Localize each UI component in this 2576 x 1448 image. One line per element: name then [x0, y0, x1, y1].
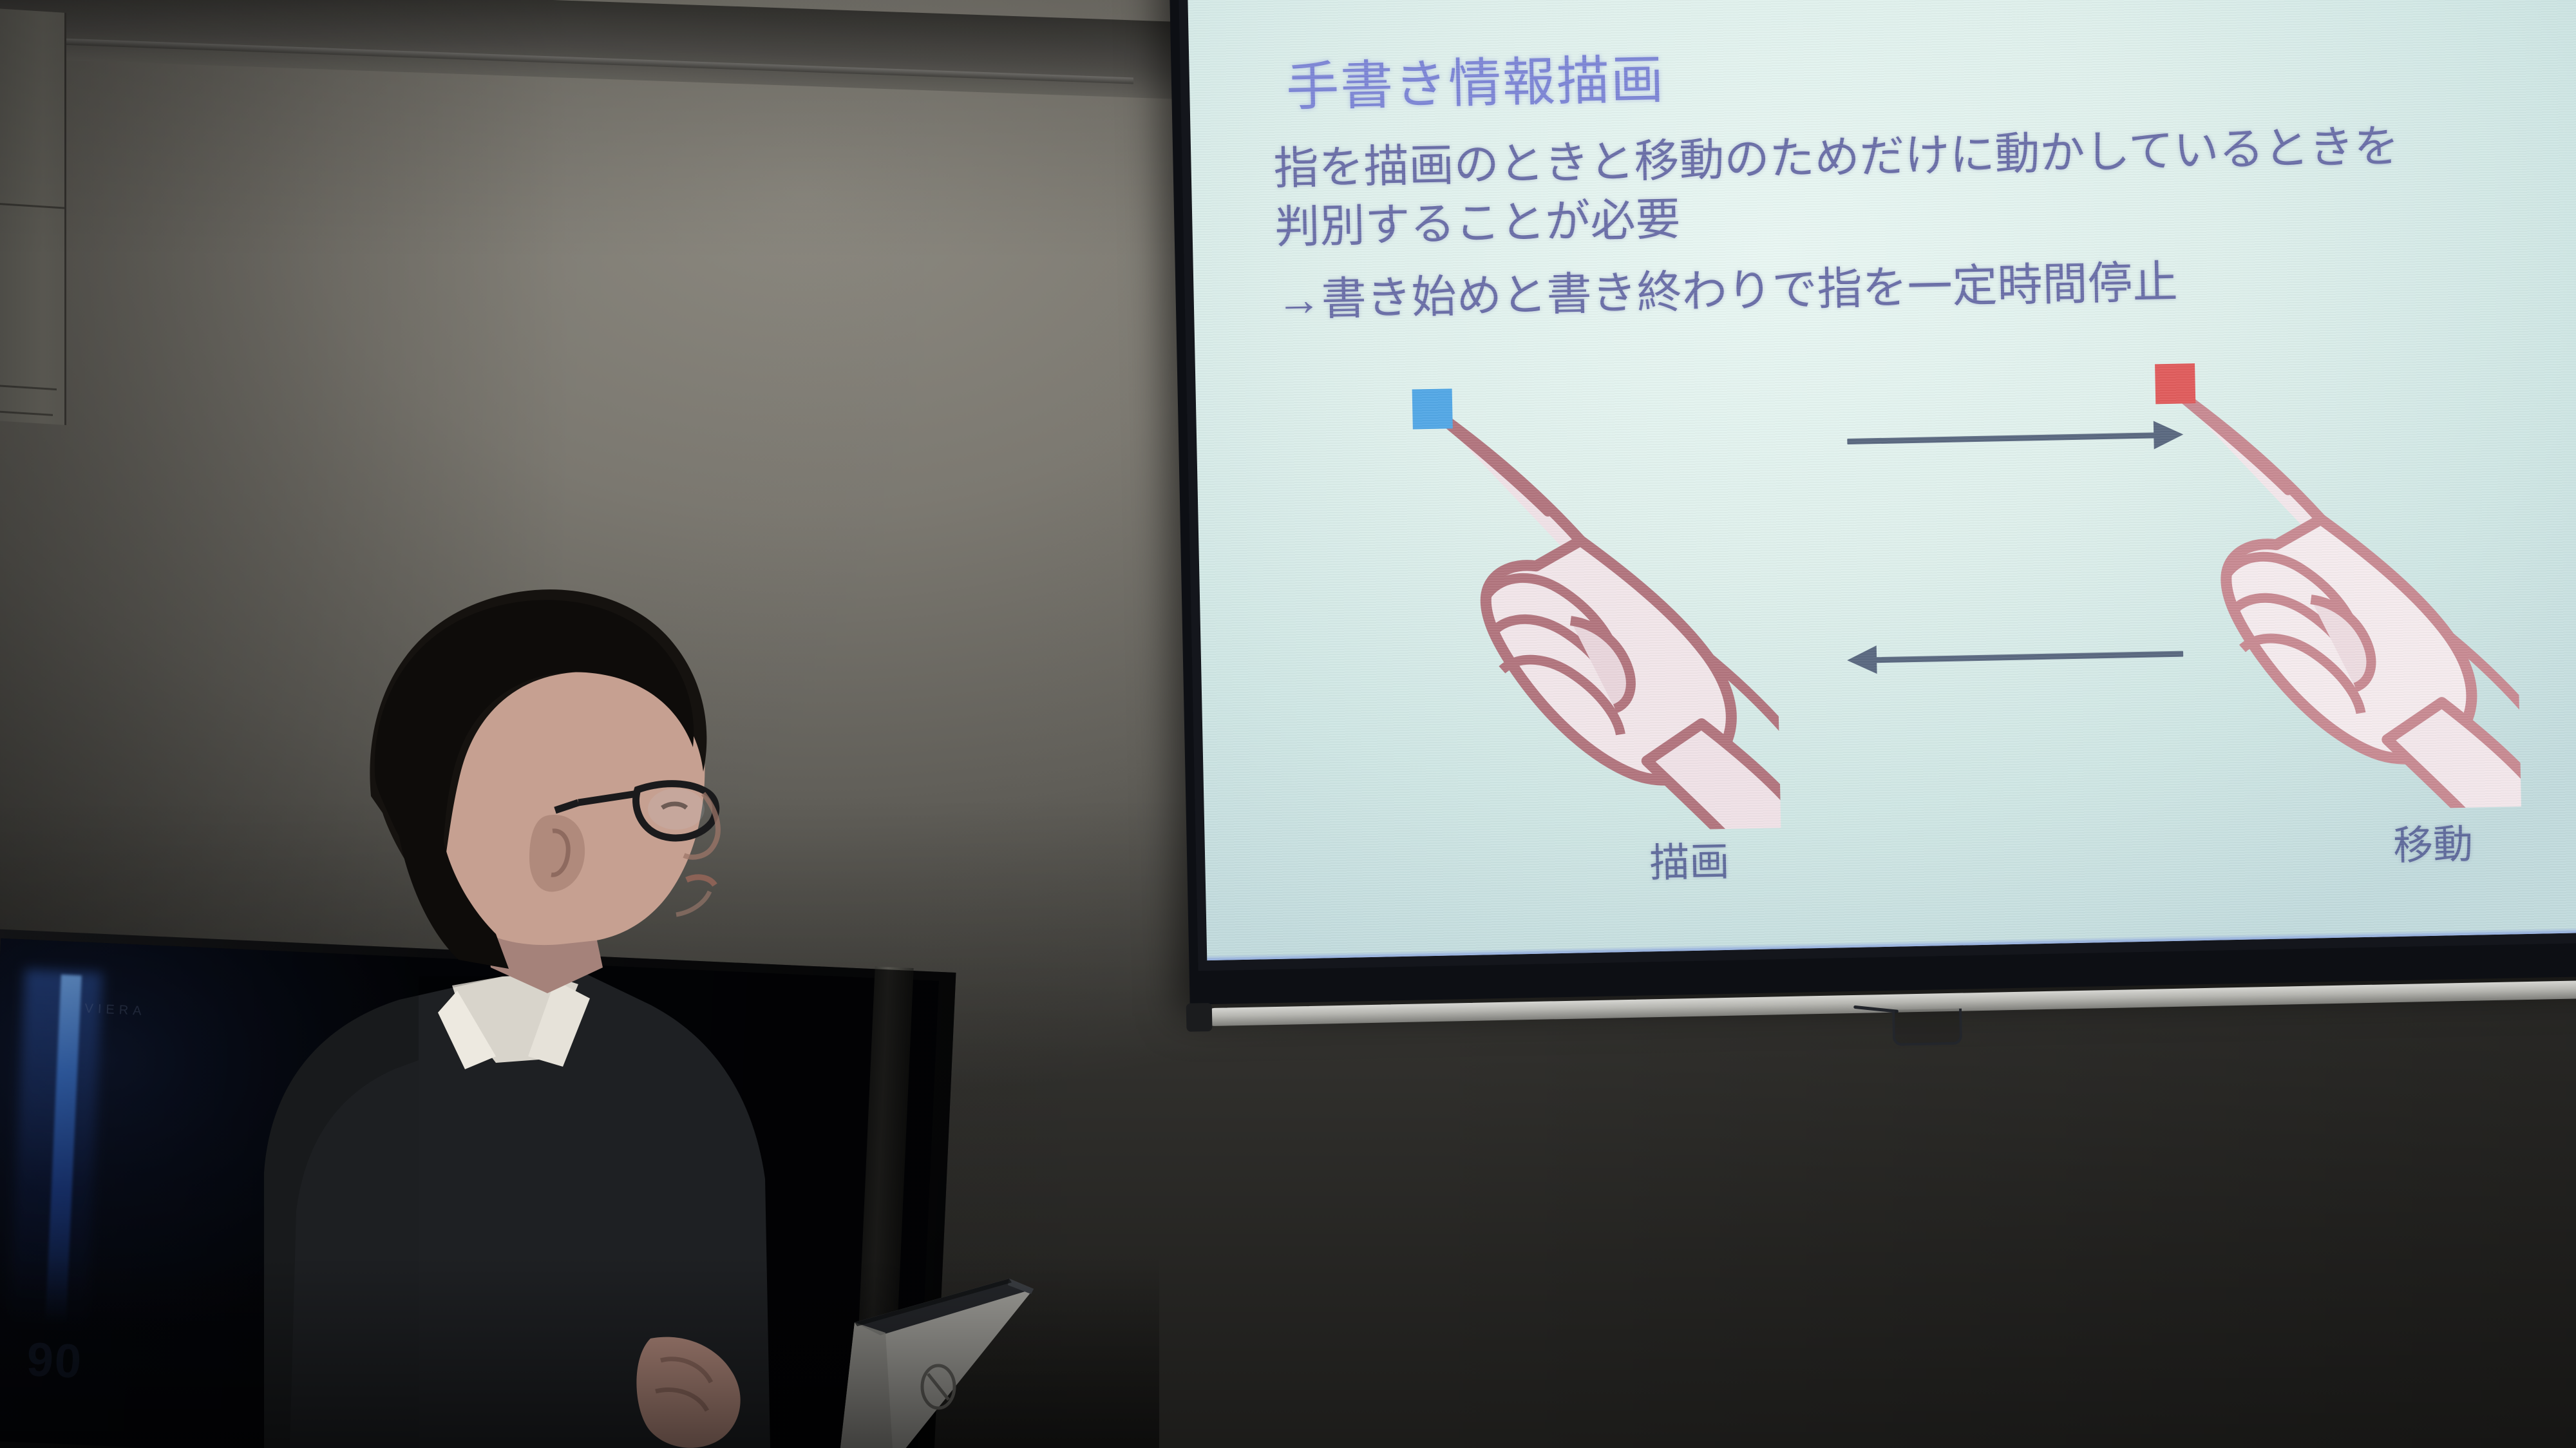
blue-square-marker-icon — [1412, 388, 1453, 429]
arrow-head — [1847, 645, 1877, 674]
slide-caption-right: 移動 — [2392, 812, 2474, 871]
screen-rod-end-cap — [1186, 1003, 1213, 1032]
screen-pull-handle[interactable] — [1892, 1009, 1962, 1046]
hand-illustration-right — [2113, 343, 2521, 814]
arrow-shaft — [1873, 651, 2183, 663]
arrow-head — [2154, 421, 2184, 450]
hand-illustration-left — [1372, 364, 1781, 835]
slide-body-line-3: →書き始めと書き終わりで指を一定時間停止 — [1276, 244, 2576, 330]
red-square-marker-icon — [2155, 363, 2195, 404]
slide-caption-left: 描画 — [1649, 829, 1730, 888]
presentation-room-scene: 手書き情報描画 指を描画のときと移動のためだけに動かしているときを 判別すること… — [0, 0, 2576, 1448]
projection-screen: 手書き情報描画 指を描画のときと移動のためだけに動かしているときを 判別すること… — [1169, 0, 2576, 1050]
slide-body-text: 指を描画のときと移動のためだけに動かしているときを 判別することが必要 →書き始… — [1273, 113, 2576, 330]
slide-title: 手書き情報描画 — [1285, 37, 1665, 121]
laptop-lid — [821, 1266, 1066, 1448]
presenter-figure — [225, 490, 869, 1448]
arrow-shaft — [1847, 432, 2157, 444]
projected-slide: 手書き情報描画 指を描画のときと移動のためだけに動かしているときを 判別すること… — [1188, 0, 2576, 960]
